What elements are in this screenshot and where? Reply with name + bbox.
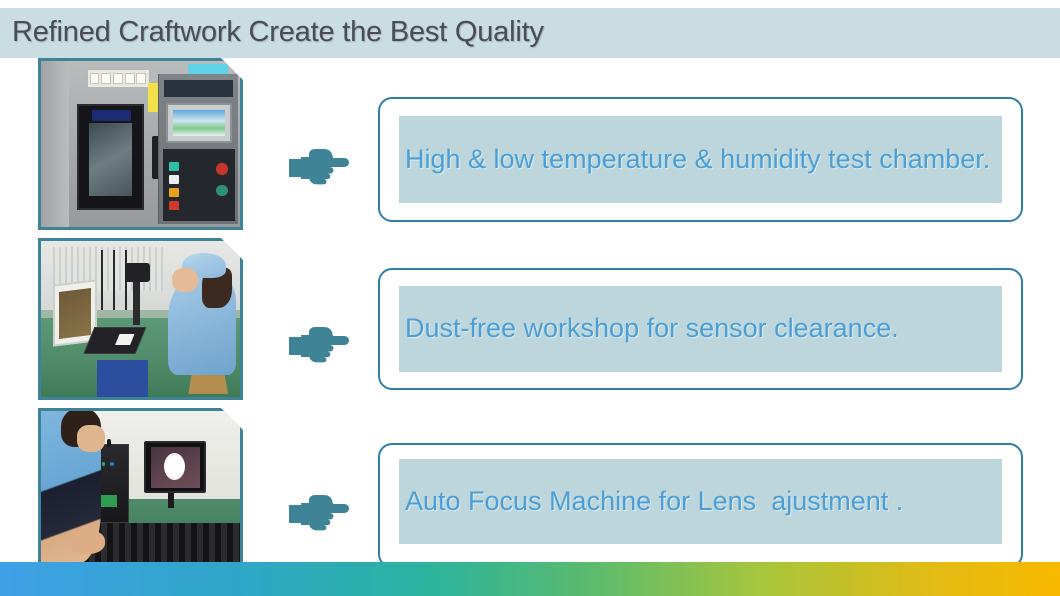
autofocus-operator-face xyxy=(77,425,105,452)
workshop-tray-sticker xyxy=(115,334,134,345)
photo-dustfree-workshop xyxy=(38,238,243,400)
autofocus-monitor-stand xyxy=(168,493,174,508)
callout-text-3: Auto Focus Machine for Lens ajustment . xyxy=(405,484,903,520)
callout-inner-2: Dust-free workshop for sensor clearance. xyxy=(399,286,1002,372)
chamber-door xyxy=(77,104,145,210)
pointing-hand-icon xyxy=(286,492,354,536)
chamber-button-green xyxy=(169,162,179,171)
chamber-label xyxy=(113,73,123,85)
pointing-hand-icon xyxy=(286,324,354,368)
autofocus-indicator-led xyxy=(102,462,106,466)
autofocus-green-pcb xyxy=(101,495,117,507)
workshop-cable xyxy=(125,250,127,316)
chamber-screen-graph xyxy=(173,110,225,136)
callout-text-1: High & low temperature & humidity test c… xyxy=(405,142,990,178)
chamber-brand-logo xyxy=(92,110,131,121)
chamber-control-panel xyxy=(158,74,238,223)
autofocus-lens-image xyxy=(164,453,185,480)
callout-box-3: Auto Focus Machine for Lens ajustment . xyxy=(378,443,1023,568)
workshop-worker-face xyxy=(172,268,198,293)
callout-box-1: High & low temperature & humidity test c… xyxy=(378,97,1023,222)
chamber-panel-title-plate xyxy=(164,80,233,96)
chamber-cyan-sticker xyxy=(188,64,228,74)
callout-text-2: Dust-free workshop for sensor clearance. xyxy=(405,311,899,347)
chamber-stop-button xyxy=(216,163,228,175)
autofocus-indicator-led xyxy=(110,462,114,466)
chamber-label xyxy=(90,73,100,85)
chamber-button-orange xyxy=(169,188,179,197)
autofocus-machine-post xyxy=(107,439,110,447)
slide-title: Refined Craftwork Create the Best Qualit… xyxy=(12,16,544,49)
photo-auto-focus-machine xyxy=(38,408,243,566)
slide-canvas: Refined Craftwork Create the Best Qualit… xyxy=(0,0,1060,596)
workshop-cable xyxy=(113,250,115,316)
photo-test-chamber-image xyxy=(41,61,240,227)
chamber-start-button xyxy=(216,185,228,197)
slide-title-bar: Refined Craftwork Create the Best Qualit… xyxy=(0,8,1060,58)
autofocus-monitor xyxy=(144,441,206,493)
callout-box-2: Dust-free workshop for sensor clearance. xyxy=(378,268,1023,390)
callout-inner-3: Auto Focus Machine for Lens ajustment . xyxy=(399,459,1002,544)
chamber-label-strip xyxy=(87,69,151,87)
photo-test-chamber xyxy=(38,58,243,230)
chamber-left-panel xyxy=(41,61,69,227)
callout-inner-1: High & low temperature & humidity test c… xyxy=(399,116,1002,203)
microscope-head xyxy=(125,263,151,282)
autofocus-monitor-screen xyxy=(151,447,201,488)
chamber-button-panel xyxy=(163,149,235,221)
workshop-monitor-screen xyxy=(59,287,91,338)
pointing-hand-icon xyxy=(286,146,354,190)
chamber-label xyxy=(101,73,111,85)
workshop-component-tray xyxy=(83,327,145,354)
workshop-cable xyxy=(101,250,103,316)
autofocus-operator-hand xyxy=(69,530,105,554)
chamber-viewing-window xyxy=(89,123,132,197)
chamber-label xyxy=(125,73,135,85)
photo-auto-focus-machine-image xyxy=(41,411,240,563)
workshop-bin xyxy=(97,360,149,397)
chamber-button-red xyxy=(169,201,179,210)
chamber-touchscreen xyxy=(166,103,232,143)
bottom-gradient-bar xyxy=(0,562,1060,596)
chamber-label xyxy=(136,73,146,85)
photo-dustfree-workshop-image xyxy=(41,241,240,397)
chamber-button-white xyxy=(169,175,179,184)
